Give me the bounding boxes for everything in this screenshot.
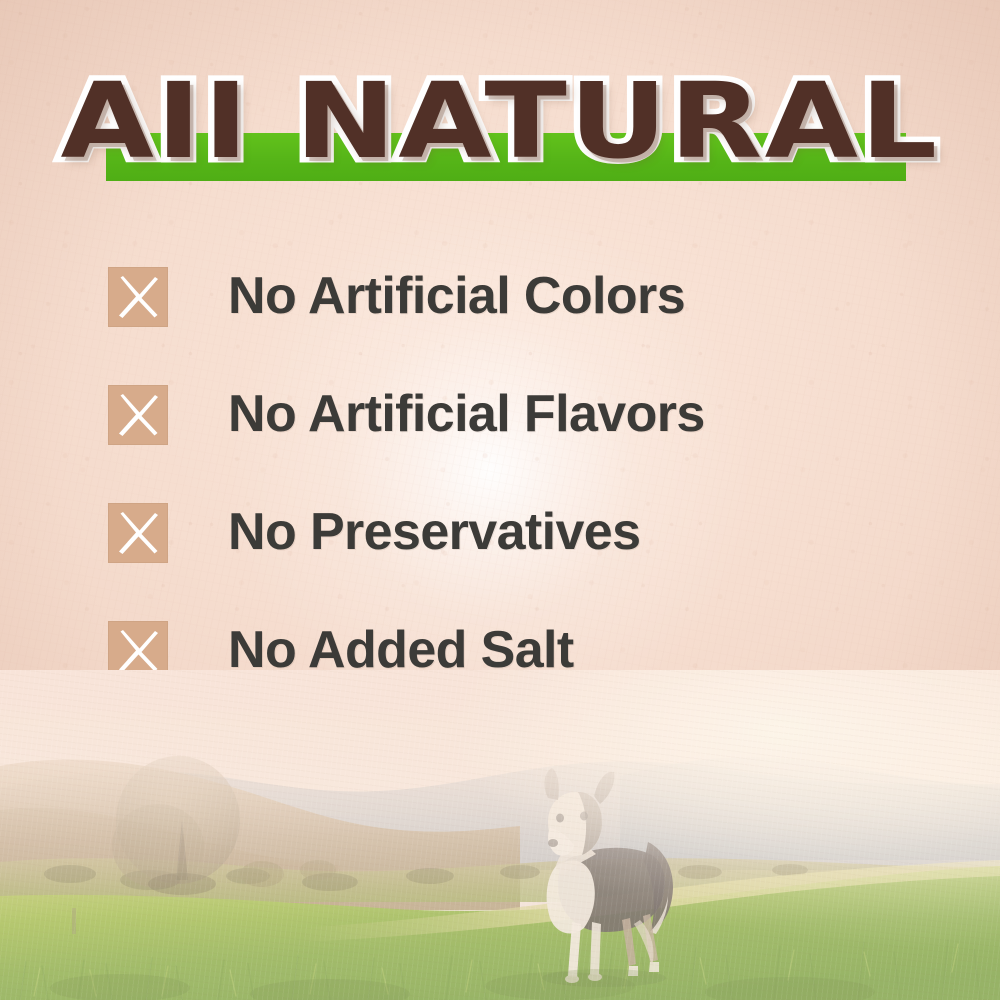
list-item-label: No Artificial Flavors: [228, 379, 705, 449]
list-item-label: No Artificial Colors: [228, 261, 685, 331]
list-item: No Artificial Colors: [0, 245, 1000, 363]
page-title: AII NATURAL: [0, 62, 1000, 180]
list-item: No Preservatives: [0, 481, 1000, 599]
x-mark-icon: [108, 267, 168, 327]
all-natural-poster: AII NATURAL No Artificial Colors No Arti…: [0, 0, 1000, 1000]
x-mark-icon: [108, 503, 168, 563]
list-item-label: No Preservatives: [228, 497, 640, 567]
benefit-list: No Artificial Colors No Artificial Flavo…: [0, 245, 1000, 717]
headline-block: AII NATURAL: [0, 62, 1000, 192]
list-item: No Artificial Flavors: [0, 363, 1000, 481]
x-mark-icon: [108, 385, 168, 445]
landscape-dog-photo: [0, 670, 1000, 1000]
